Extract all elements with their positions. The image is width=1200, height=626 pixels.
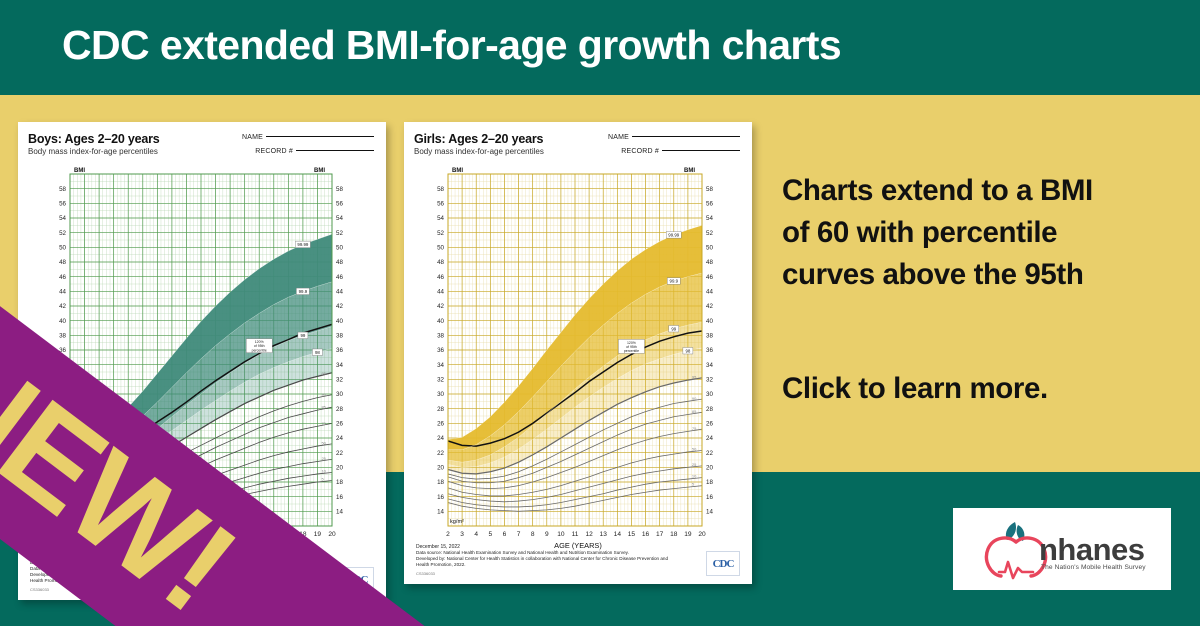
ytick-label: 52 xyxy=(336,230,343,237)
ytick-label: 50 xyxy=(336,245,343,252)
ytick-label: 48 xyxy=(59,259,66,266)
record-field-boys[interactable]: RECORD # xyxy=(255,148,374,155)
ytick-label: 58 xyxy=(59,186,66,193)
ytick-label: 22 xyxy=(706,450,713,457)
ytick-label: 38 xyxy=(59,333,66,340)
ytick-label: 50 xyxy=(59,245,66,252)
callout-label-99: 99 xyxy=(671,326,676,331)
curve-label-25: 25 xyxy=(692,462,697,467)
ytick-label: 26 xyxy=(706,421,713,428)
xtick-label: 4 xyxy=(474,531,478,538)
callout-label-99.9: 99.9 xyxy=(299,289,308,294)
promo-banner: CDC extended BMI-for-age growth charts C… xyxy=(0,0,1200,626)
xtick-label: 5 xyxy=(488,531,492,538)
ytick-label: 46 xyxy=(59,274,66,281)
xtick-label: 7 xyxy=(517,531,521,538)
ytick-label: 18 xyxy=(437,479,444,486)
ytick-label: 56 xyxy=(336,201,343,208)
ytick-label: 24 xyxy=(336,435,343,442)
ytick-label: 18 xyxy=(336,479,343,486)
ytick-label: 44 xyxy=(59,289,66,296)
ytick-label: 32 xyxy=(706,377,713,384)
copy-line-3: curves above the 95th xyxy=(782,254,1182,296)
ytick-label: 16 xyxy=(336,494,343,501)
xtick-label: 19 xyxy=(314,531,322,538)
unit-label-girls: kg/m² xyxy=(450,519,464,525)
ytick-label: 24 xyxy=(706,435,713,442)
ytick-label: 54 xyxy=(336,215,343,222)
axis-label-right-girls: BMI xyxy=(684,168,695,174)
ytick-label: 46 xyxy=(706,274,713,281)
ytick-label: 40 xyxy=(336,318,343,325)
ytick-label: 38 xyxy=(437,333,444,340)
curve-label-10: 10 xyxy=(321,468,326,473)
record-label: RECORD # xyxy=(621,148,659,155)
curve-label-95: 95 xyxy=(321,371,326,376)
xtick-label: 9 xyxy=(545,531,549,538)
record-field-girls[interactable]: RECORD # xyxy=(621,148,740,155)
ytick-label: 30 xyxy=(437,391,444,398)
cdc-logo-girls: CDC xyxy=(706,551,740,576)
callout-label-98: 98 xyxy=(685,348,690,353)
ytick-label: 28 xyxy=(336,406,343,413)
ytick-label: 48 xyxy=(336,259,343,266)
callout-label-120pct-line2: percentile xyxy=(252,348,267,352)
ytick-label: 14 xyxy=(336,509,343,516)
curve-label-10: 10 xyxy=(692,474,697,479)
ytick-label: 36 xyxy=(437,347,444,354)
ytick-label: 58 xyxy=(336,186,343,193)
xtick-label: 10 xyxy=(557,531,565,538)
chart-header-girls: Girls: Ages 2–20 years Body mass index-f… xyxy=(414,132,742,166)
copy-line-2: of 60 with percentile xyxy=(782,212,1182,254)
ytick-label: 38 xyxy=(706,333,713,340)
curve-label-50: 50 xyxy=(321,441,326,446)
plot-girls: 1414161618182020222224242626282830303232… xyxy=(414,166,742,558)
axis-label-left-boys: BMI xyxy=(74,168,85,174)
ytick-label: 26 xyxy=(336,421,343,428)
name-label: NAME xyxy=(608,134,629,141)
callout-label-99.99: 99.99 xyxy=(297,242,309,247)
ytick-label: 48 xyxy=(706,259,713,266)
xtick-label: 2 xyxy=(446,531,450,538)
ytick-label: 38 xyxy=(336,333,343,340)
ytick-label: 42 xyxy=(706,303,713,310)
ytick-label: 52 xyxy=(59,230,66,237)
ytick-label: 52 xyxy=(706,230,713,237)
ytick-label: 30 xyxy=(706,391,713,398)
callout-label-99.99: 99.99 xyxy=(668,232,680,237)
ytick-label: 24 xyxy=(437,435,444,442)
curve-label-75: 75 xyxy=(321,421,326,426)
growth-chart-svg-girls: 1414161618182020222224242626282830303232… xyxy=(414,166,742,558)
chart-footer-girls: December 15, 2022 Data source: National … xyxy=(416,544,742,576)
record-label: RECORD # xyxy=(255,148,293,155)
xtick-label: 15 xyxy=(628,531,636,538)
xtick-label: 20 xyxy=(698,531,706,538)
ytick-label: 46 xyxy=(437,274,444,281)
nhanes-logo: nhanes The Nation's Mobile Health Survey xyxy=(953,508,1171,590)
ytick-label: 20 xyxy=(437,465,444,472)
xtick-label: 12 xyxy=(585,531,593,538)
footer-code-girls: CS336033 xyxy=(416,571,742,576)
curve-label-85: 85 xyxy=(321,405,326,410)
curve-label-25: 25 xyxy=(321,456,326,461)
xtick-label: 8 xyxy=(531,531,535,538)
ytick-label: 20 xyxy=(336,465,343,472)
xtick-label: 19 xyxy=(684,531,692,538)
cdc-mark-girls: CDC xyxy=(713,558,734,570)
copy-line-1: Charts extend to a BMI xyxy=(782,170,1182,212)
ytick-label: 28 xyxy=(706,406,713,413)
axis-label-right-boys: BMI xyxy=(314,168,325,174)
ytick-label: 34 xyxy=(336,362,343,369)
xtick-label: 16 xyxy=(642,531,650,538)
ytick-label: 54 xyxy=(706,215,713,222)
cta-text[interactable]: Click to learn more. xyxy=(782,372,1048,406)
callout-label-99: 99 xyxy=(300,333,305,338)
xtick-label: 6 xyxy=(503,531,507,538)
ytick-label: 30 xyxy=(336,391,343,398)
ytick-label: 48 xyxy=(437,259,444,266)
ytick-label: 52 xyxy=(437,230,444,237)
xtick-label: 20 xyxy=(328,531,336,538)
ytick-label: 34 xyxy=(437,362,444,369)
xtick-label: 3 xyxy=(460,531,464,538)
xtick-label: 14 xyxy=(614,531,622,538)
heartbeat-icon xyxy=(999,562,1033,578)
chart-header-boys: Boys: Ages 2–20 years Body mass index-fo… xyxy=(28,132,376,166)
ytick-label: 36 xyxy=(706,347,713,354)
ytick-label: 14 xyxy=(437,509,444,516)
ytick-label: 16 xyxy=(437,494,444,501)
ytick-label: 58 xyxy=(706,186,713,193)
xtick-label: 11 xyxy=(572,531,579,538)
footer-line-girls-2: Health Promotion, 2022. xyxy=(416,562,742,568)
ytick-label: 40 xyxy=(437,318,444,325)
ytick-label: 22 xyxy=(437,450,444,457)
xtick-label: 18 xyxy=(670,531,678,538)
ytick-label: 16 xyxy=(706,494,713,501)
ytick-label: 56 xyxy=(706,201,713,208)
ytick-label: 56 xyxy=(437,201,444,208)
curve-label-85: 85 xyxy=(692,409,697,414)
name-field-girls[interactable]: NAME xyxy=(608,134,740,141)
ytick-label: 54 xyxy=(437,215,444,222)
curve-label-90: 90 xyxy=(321,392,326,397)
ytick-label: 42 xyxy=(336,303,343,310)
curve-label-75: 75 xyxy=(692,426,697,431)
ytick-label: 42 xyxy=(437,303,444,310)
ytick-label: 46 xyxy=(336,274,343,281)
ytick-label: 22 xyxy=(336,450,343,457)
callout-label-120pct-line2: percentile xyxy=(624,349,639,353)
ytick-label: 26 xyxy=(437,421,444,428)
page-title: CDC extended BMI-for-age growth charts xyxy=(62,22,841,69)
ytick-label: 50 xyxy=(437,245,444,252)
ytick-label: 32 xyxy=(437,377,444,384)
ytick-label: 40 xyxy=(706,318,713,325)
ytick-label: 56 xyxy=(59,201,66,208)
curve-label-95: 95 xyxy=(692,375,697,380)
promo-copy: Charts extend to a BMI of 60 with percen… xyxy=(782,170,1182,296)
ytick-label: 42 xyxy=(59,303,66,310)
ytick-label: 18 xyxy=(706,479,713,486)
callout-label-99.9: 99.9 xyxy=(670,279,679,284)
axis-label-left-girls: BMI xyxy=(452,168,463,174)
nhanes-wordmark: nhanes xyxy=(1039,532,1145,568)
chart-card-girls[interactable]: Girls: Ages 2–20 years Body mass index-f… xyxy=(404,122,752,584)
xtick-label: 17 xyxy=(656,531,664,538)
ytick-label: 54 xyxy=(59,215,66,222)
curve-label-50: 50 xyxy=(692,446,697,451)
ytick-label: 40 xyxy=(59,318,66,325)
ytick-label: 34 xyxy=(706,362,713,369)
name-label: NAME xyxy=(242,134,263,141)
ytick-label: 58 xyxy=(437,186,444,193)
ytick-label: 20 xyxy=(706,465,713,472)
name-field-boys[interactable]: NAME xyxy=(242,134,374,141)
ytick-label: 50 xyxy=(706,245,713,252)
xtick-label: 13 xyxy=(600,531,608,538)
curve-label-90: 90 xyxy=(692,396,697,401)
ytick-label: 14 xyxy=(706,509,713,516)
ytick-label: 32 xyxy=(336,377,343,384)
ytick-label: 36 xyxy=(336,347,343,354)
callout-label-98: 98 xyxy=(315,350,320,355)
nhanes-tagline: The Nation's Mobile Health Survey xyxy=(1041,564,1146,571)
header-band: CDC extended BMI-for-age growth charts xyxy=(0,0,1200,95)
ytick-label: 44 xyxy=(437,289,444,296)
ytick-label: 28 xyxy=(437,406,444,413)
ytick-label: 44 xyxy=(336,289,343,296)
ytick-label: 44 xyxy=(706,289,713,296)
